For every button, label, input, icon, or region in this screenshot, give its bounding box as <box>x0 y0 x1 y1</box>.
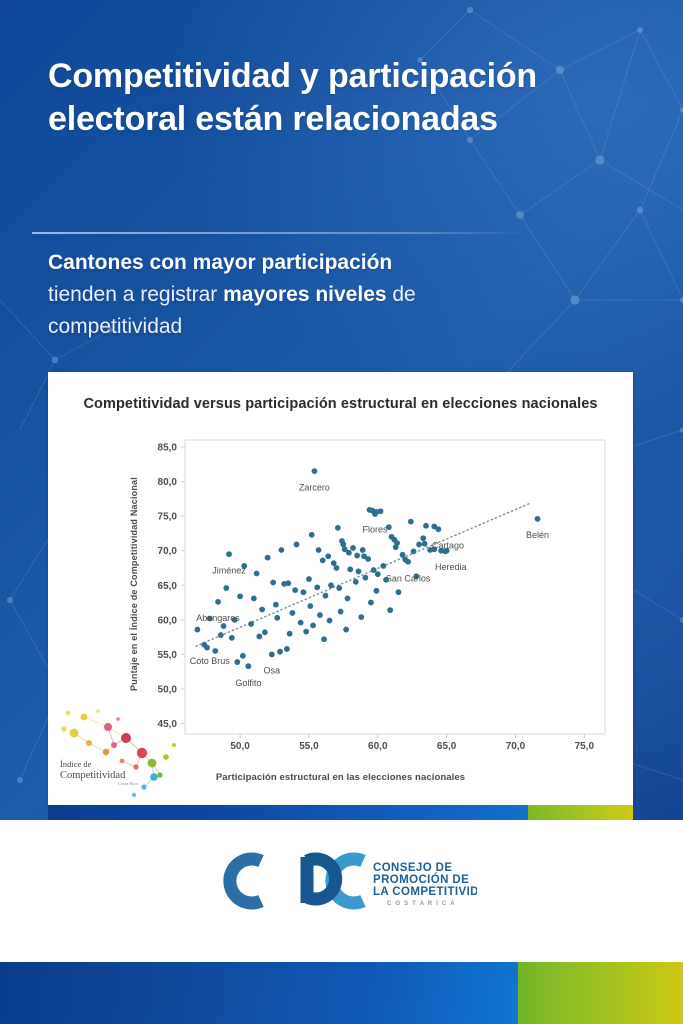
svg-text:55,0: 55,0 <box>299 741 319 752</box>
svg-text:60,0: 60,0 <box>158 615 178 626</box>
svg-text:Abangares: Abangares <box>196 613 240 623</box>
subtitle-line-1: Cantones con mayor participación <box>48 251 392 274</box>
chart-title: Competitividad versus participación estr… <box>48 394 633 414</box>
subtitle-line-2-bold: mayores niveles <box>223 283 386 306</box>
indice-competitividad-logo: Índice de Competitividad Costa Rica <box>56 705 191 797</box>
bottom-band-green <box>518 962 683 1024</box>
svg-text:85,0: 85,0 <box>158 442 178 453</box>
footer: CONSEJO DE PROMOCIÓN DE LA COMPETITIVIDA… <box>0 820 683 962</box>
poster-subtitle: Cantones con mayor participación tienden… <box>48 247 518 343</box>
svg-text:Osa: Osa <box>263 666 280 676</box>
svg-text:75,0: 75,0 <box>158 512 178 523</box>
header-divider <box>32 232 527 234</box>
chart-y-axis-label: Puntaje en el Índice de Competitividad N… <box>126 442 142 727</box>
y-axis-ticks: 85,080,075,070,065,060,055,050,045,0 <box>158 442 185 730</box>
plot-frame <box>185 440 605 734</box>
icd-logo-line3: Costa Rica <box>118 781 138 786</box>
svg-text:65,0: 65,0 <box>437 741 457 752</box>
svg-text:Golfito: Golfito <box>235 678 261 688</box>
svg-text:50,0: 50,0 <box>158 685 178 696</box>
cpc-logo: CONSEJO DE PROMOCIÓN DE LA COMPETITIVIDA… <box>215 845 477 917</box>
svg-text:Belén: Belén <box>526 530 549 540</box>
svg-text:50,0: 50,0 <box>230 741 250 752</box>
accent-bar-top <box>48 805 633 820</box>
scatter-plot: 85,080,075,070,065,060,055,050,045,0 50,… <box>141 434 611 764</box>
accent-bar-top-green <box>528 805 633 820</box>
bottom-accent-band <box>0 962 683 1024</box>
icd-logo-line2: Competitividad <box>60 770 126 781</box>
subtitle-line-2-pre: tienden a registrar <box>48 283 223 306</box>
svg-text:Flores: Flores <box>363 525 389 535</box>
cpc-text-line1: CONSEJO DE <box>373 862 452 874</box>
svg-text:Coto Brus: Coto Brus <box>190 656 231 666</box>
cpc-text-line4: C O S T A R I C A <box>387 901 456 907</box>
page-title: Competitividad y participación electoral… <box>48 55 548 141</box>
svg-text:Cartago: Cartago <box>432 540 464 550</box>
svg-text:60,0: 60,0 <box>368 741 388 752</box>
svg-text:Zarcero: Zarcero <box>299 482 330 492</box>
svg-text:Heredia: Heredia <box>435 562 467 572</box>
chart-card: Competitividad versus participación estr… <box>48 372 633 805</box>
icd-logo-line1: Índice de <box>60 759 92 769</box>
svg-text:75,0: 75,0 <box>575 741 595 752</box>
cpc-text-line3: LA COMPETITIVIDAD <box>373 886 477 898</box>
svg-text:70,0: 70,0 <box>506 741 526 752</box>
svg-text:55,0: 55,0 <box>158 650 178 661</box>
svg-text:65,0: 65,0 <box>158 581 178 592</box>
svg-text:80,0: 80,0 <box>158 477 178 488</box>
data-points <box>194 468 540 669</box>
poster-background: Competitividad y participación electoral… <box>0 0 683 820</box>
svg-text:San Carlos: San Carlos <box>386 574 431 584</box>
svg-text:70,0: 70,0 <box>158 546 178 557</box>
svg-text:Jiménez: Jiménez <box>212 565 246 575</box>
bottom-band-blue <box>0 962 518 1024</box>
cpc-text-line2: PROMOCIÓN DE <box>373 873 469 886</box>
x-axis-ticks: 50,055,060,065,070,075,0 <box>230 734 594 752</box>
